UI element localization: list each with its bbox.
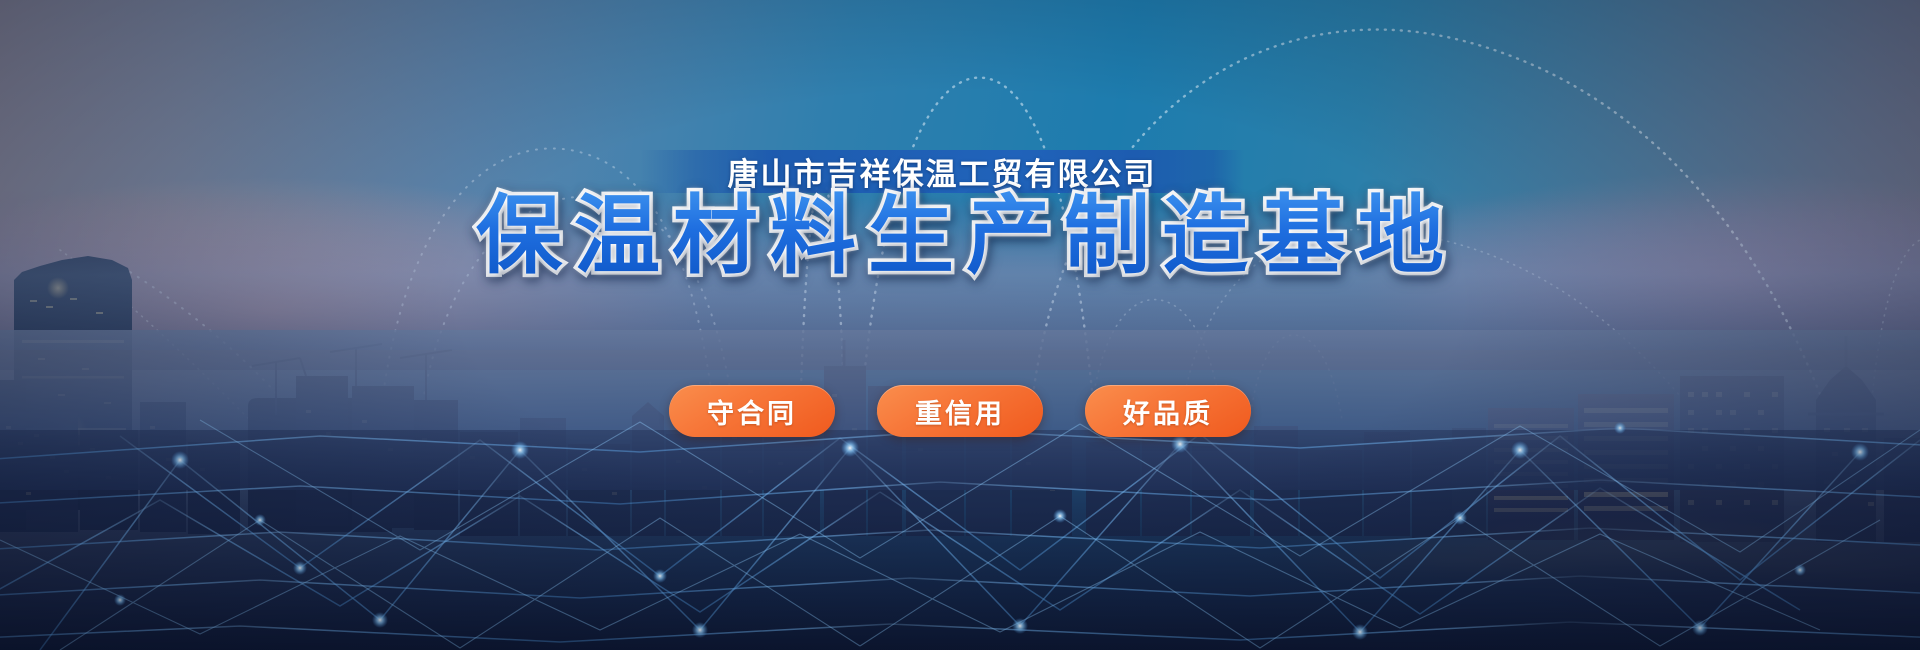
banner-content: 唐山市吉祥保温工贸有限公司 保温材料生产制造基地 保温材料生产制造基地 守合同 …: [0, 0, 1920, 650]
tag-pill-quality[interactable]: 好品质: [1085, 385, 1251, 437]
headline-title: 保温材料生产制造基地: [0, 186, 1920, 287]
hero-banner: .dline{fill:none;stroke:#e8f2fb;stroke-w…: [0, 0, 1920, 650]
tag-pill-contract[interactable]: 守合同: [669, 385, 835, 437]
tag-pill-group: 守合同 重信用 好品质: [0, 385, 1920, 437]
tag-pill-credit[interactable]: 重信用: [877, 385, 1043, 437]
